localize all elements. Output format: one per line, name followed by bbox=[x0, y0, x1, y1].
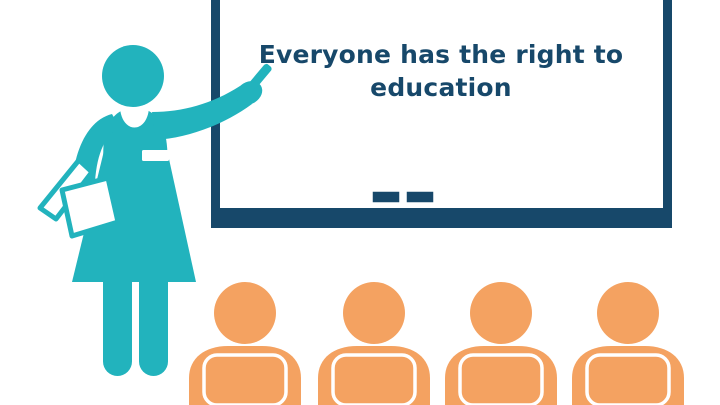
student-3-chair-back bbox=[460, 355, 542, 405]
illustration-canvas: Everyone has the right to education bbox=[0, 0, 720, 405]
marker-eraser-left bbox=[372, 191, 400, 203]
education-illustration-scene: Everyone has the right to education bbox=[0, 0, 720, 405]
student-1-head bbox=[214, 282, 276, 344]
whiteboard-surface bbox=[211, 0, 672, 212]
student-2-chair-back bbox=[333, 355, 415, 405]
student-2-head bbox=[343, 282, 405, 344]
whiteboard-frame-right bbox=[663, 0, 672, 212]
whiteboard: Everyone has the right to education bbox=[211, 0, 672, 228]
teacher-head bbox=[102, 45, 164, 107]
student-4-chair-back bbox=[587, 355, 669, 405]
student-3-head bbox=[470, 282, 532, 344]
marker-eraser-right-body bbox=[406, 191, 434, 203]
marker-eraser-right bbox=[406, 191, 434, 203]
name-badge bbox=[142, 150, 169, 161]
marker-eraser-left-body bbox=[372, 191, 400, 203]
whiteboard-ledge bbox=[211, 208, 672, 228]
board-message-line-2: education bbox=[370, 73, 512, 102]
board-message-line-1: Everyone has the right to bbox=[259, 40, 624, 69]
student-1-chair-back bbox=[204, 355, 286, 405]
student-4-head bbox=[597, 282, 659, 344]
